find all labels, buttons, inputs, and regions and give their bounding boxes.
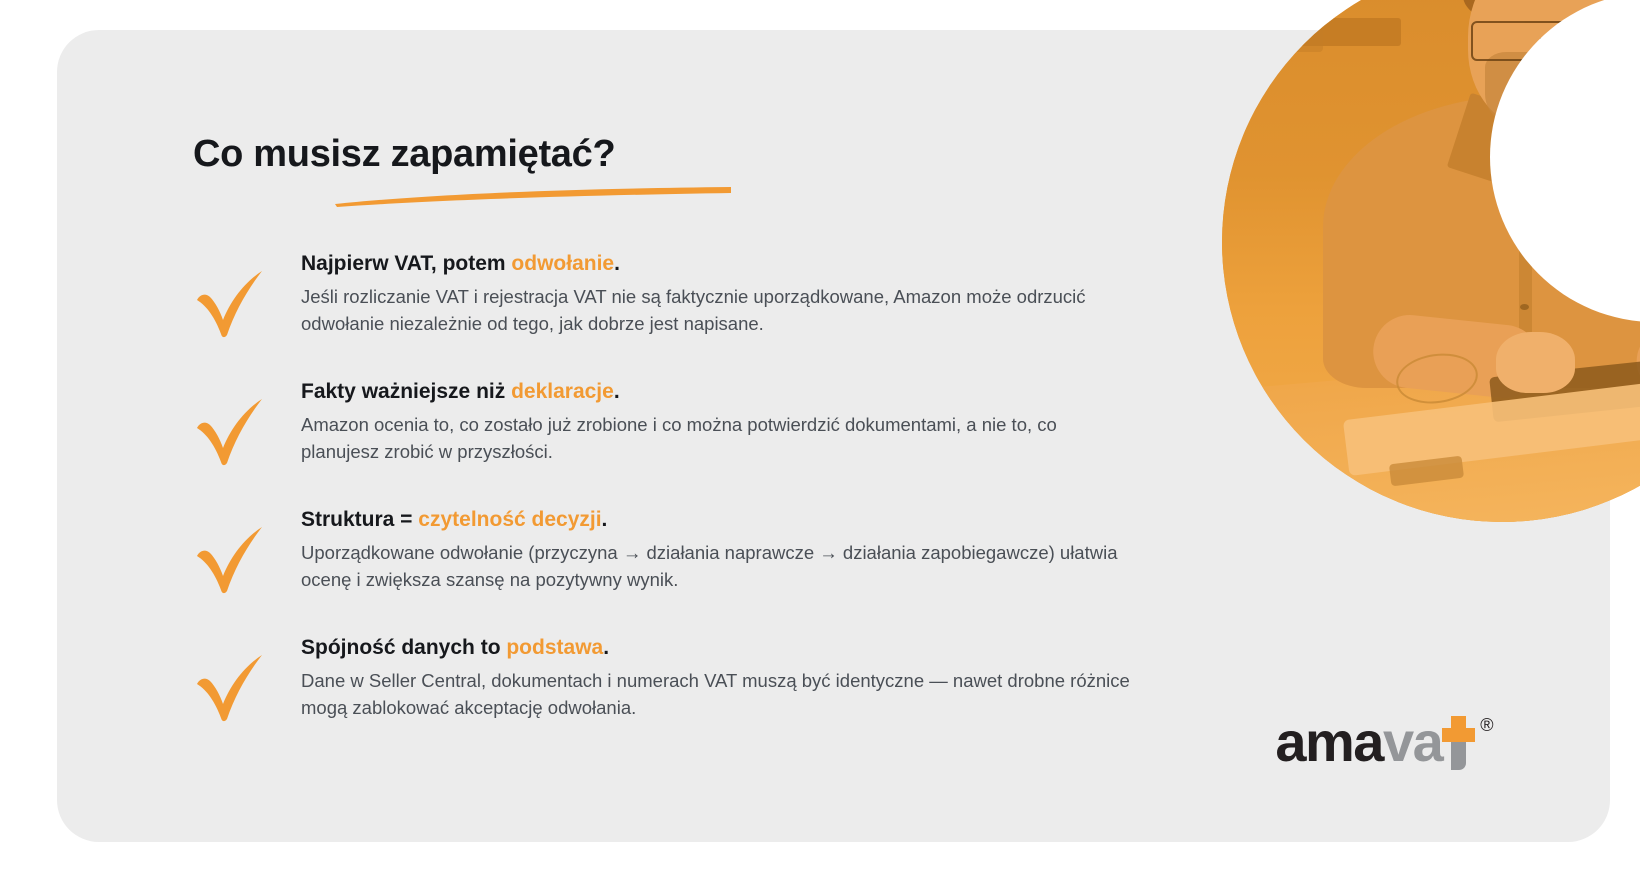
title-accent: deklaracje [511, 380, 614, 403]
key-points-list: Najpierw VAT, potem odwołanie. Jeśli roz… [193, 248, 1153, 724]
check-icon-wrap [193, 248, 301, 340]
list-item-title: Najpierw VAT, potem odwołanie. [301, 250, 1153, 277]
logo-t-crossbar [1442, 728, 1475, 742]
check-icon-wrap [193, 376, 301, 468]
photo-person-hair [1463, 0, 1625, 24]
orange-checkmark-icon [193, 266, 267, 340]
list-item-text: Struktura = czytelność decyzji. Uporządk… [301, 504, 1153, 593]
title-tail: . [602, 508, 608, 531]
page-title-block: Co musisz zapamiętać? [193, 133, 893, 207]
list-item-title: Spójność danych to podstawa. [301, 634, 1153, 661]
list-item-text: Najpierw VAT, potem odwołanie. Jeśli roz… [301, 248, 1153, 337]
page-title: Co musisz zapamiętać? [193, 133, 893, 177]
orange-checkmark-icon [193, 394, 267, 468]
title-plain: Spójność danych to [301, 636, 506, 659]
logo-t-plus-icon [1442, 714, 1476, 770]
title-plain: Fakty ważniejsze niż [301, 380, 511, 403]
list-item: Fakty ważniejsze niż deklaracje. Amazon … [193, 376, 1153, 468]
logo-text-ama: ama [1275, 714, 1383, 770]
list-item-body: Uporządkowane odwołanie (przyczyna → dzi… [301, 539, 1131, 593]
infographic-canvas: Co musisz zapamiętać? Najpierw VAT, pote… [0, 0, 1640, 880]
title-plain: Struktura = [301, 508, 418, 531]
list-item: Spójność danych to podstawa. Dane w Sell… [193, 632, 1153, 724]
title-tail: . [614, 252, 620, 275]
list-item-body: Amazon ocenia to, co zostało już zrobion… [301, 411, 1131, 465]
registered-trademark-symbol: ® [1480, 716, 1492, 734]
orange-swoosh-underline-icon [333, 185, 733, 207]
list-item-text: Fakty ważniejsze niż deklaracje. Amazon … [301, 376, 1153, 465]
title-plain: Najpierw VAT, potem [301, 252, 511, 275]
logo-text-va: va [1383, 714, 1442, 770]
list-item: Najpierw VAT, potem odwołanie. Jeśli roz… [193, 248, 1153, 340]
title-tail: . [614, 380, 620, 403]
list-item: Struktura = czytelność decyzji. Uporządk… [193, 504, 1153, 596]
check-icon-wrap [193, 632, 301, 724]
photo-person-arm-right [1632, 307, 1640, 400]
title-tail: . [603, 636, 609, 659]
list-item-body: Jeśli rozliczanie VAT i rejestracja VAT … [301, 283, 1131, 337]
amavat-logo: ama va ® [1275, 714, 1492, 770]
list-item-text: Spójność danych to podstawa. Dane w Sell… [301, 632, 1153, 721]
orange-checkmark-icon [193, 650, 267, 724]
list-item-title: Struktura = czytelność decyzji. [301, 506, 1153, 533]
check-icon-wrap [193, 504, 301, 596]
title-accent: odwołanie [511, 252, 614, 275]
orange-checkmark-icon [193, 522, 267, 596]
content-card: Co musisz zapamiętać? Najpierw VAT, pote… [57, 30, 1610, 842]
title-accent: czytelność decyzji [418, 508, 601, 531]
list-item-body: Dane w Seller Central, dokumentach i num… [301, 667, 1131, 721]
list-item-title: Fakty ważniejsze niż deklaracje. [301, 378, 1153, 405]
title-accent: podstawa [506, 636, 603, 659]
